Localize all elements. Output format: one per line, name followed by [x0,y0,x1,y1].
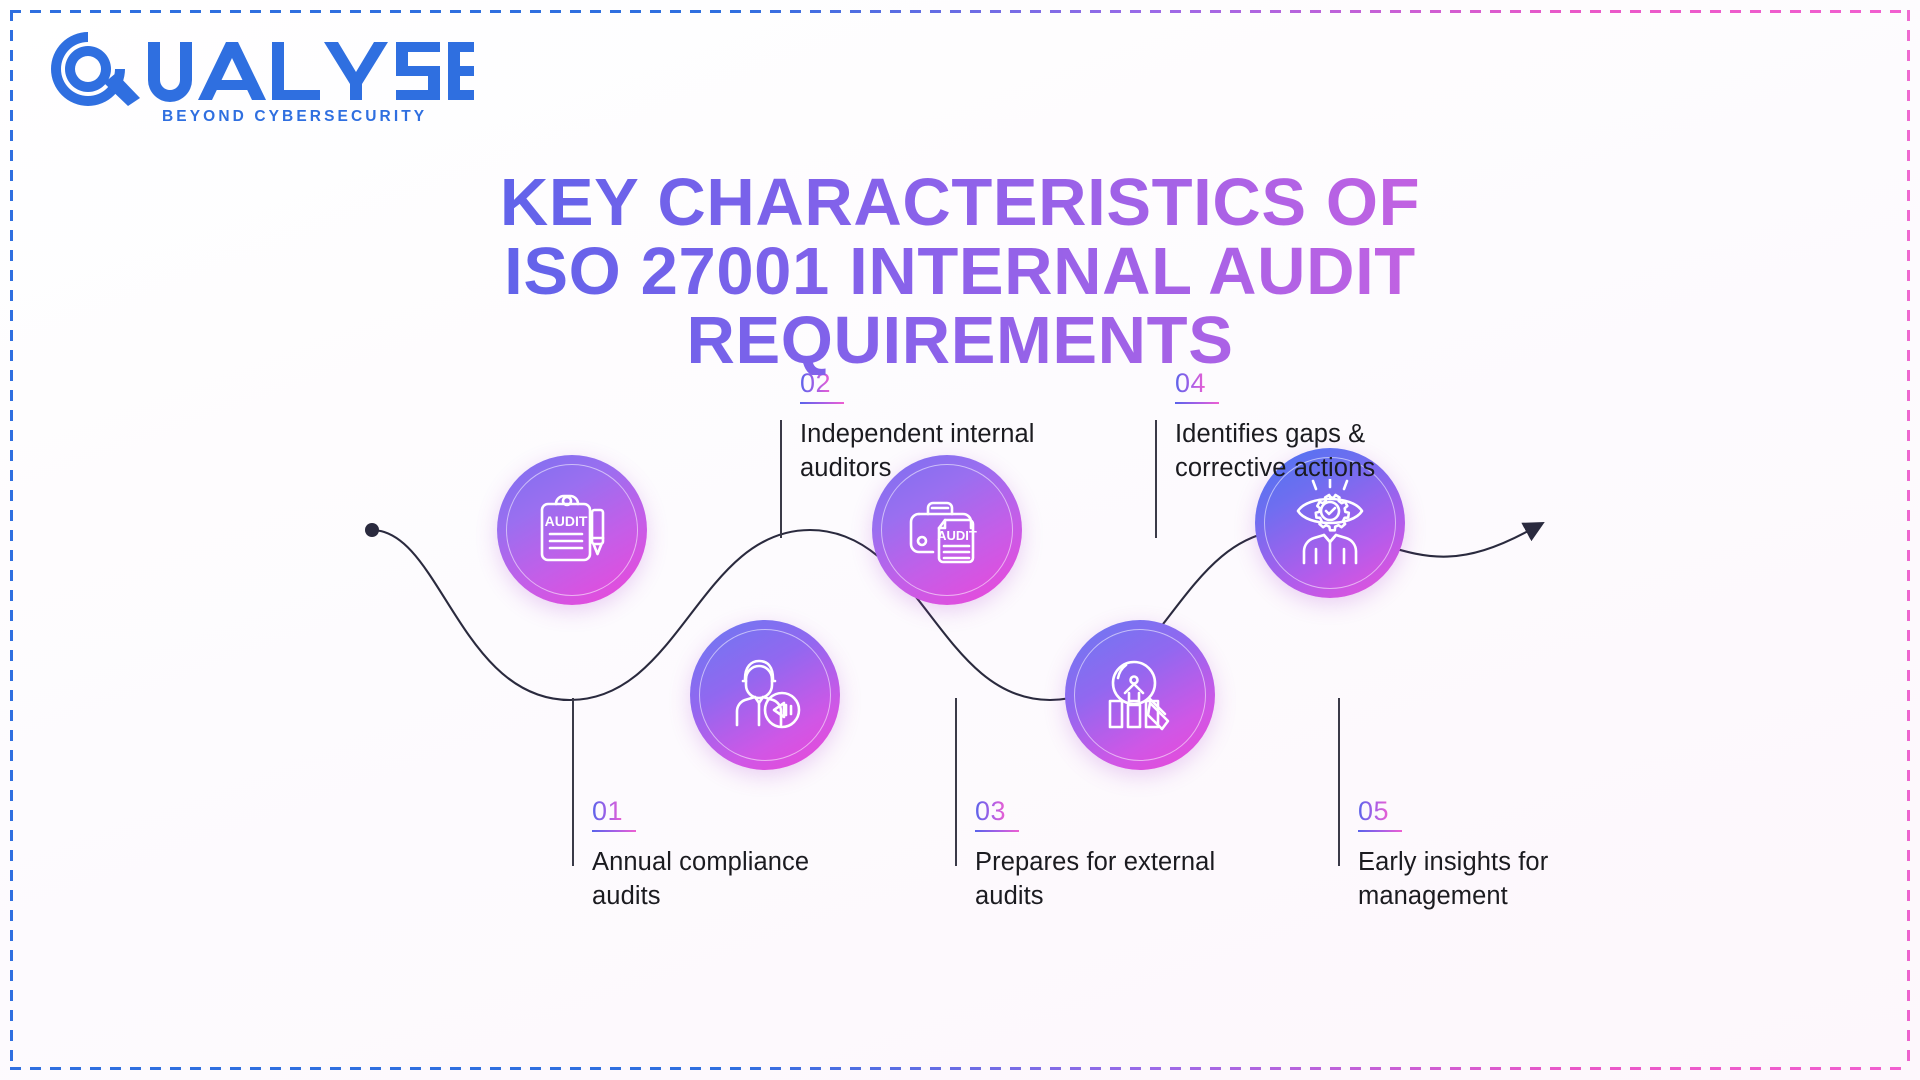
border-top [10,10,1910,13]
title-line-1: KEY CHARACTERISTICS OF [0,168,1920,237]
step-icon-02[interactable] [690,620,840,770]
briefcase-audit-text: AUDIT [937,528,977,543]
page-title: KEY CHARACTERISTICS OF ISO 27001 INTERNA… [0,168,1920,375]
callout-rule-03 [975,830,1019,832]
eye-gear-person-insight-icon [1286,479,1374,567]
border-bottom [10,1067,1910,1070]
callout-04: 04 Identifies gaps & corrective actions [1157,370,1457,485]
callout-05: 05 Early insights for management [1340,798,1640,913]
callout-text-03: Prepares for external audits [975,846,1257,913]
qualysec-wordmark-icon [44,28,474,106]
infographic-canvas: BEYOND CYBERSECURITY KEY CHARACTERISTICS… [0,0,1920,1080]
callout-text-04: Identifies gaps & corrective actions [1175,418,1457,485]
step-icon-04[interactable] [1065,620,1215,770]
callout-01: 01 Annual compliance audits [574,798,874,913]
title-line-2: ISO 27001 INTERNAL AUDIT [0,237,1920,306]
callout-rule-01 [592,830,636,832]
magnifier-bar-chart-icon [1098,653,1182,737]
callout-text-01: Annual compliance audits [592,846,874,913]
callout-03: 03 Prepares for external audits [957,798,1257,913]
callout-number-05: 05 [1358,798,1389,825]
brand-logo: BEYOND CYBERSECURITY [44,28,474,126]
title-line-3: REQUIREMENTS [0,306,1920,375]
callout-number-01: 01 [592,798,623,825]
callout-rule-04 [1175,402,1219,404]
brand-tagline: BEYOND CYBERSECURITY [162,108,474,126]
clipboard-audit-text: AUDIT [545,513,588,529]
step-icon-01[interactable]: AUDIT [497,455,647,605]
wave-start-dot [365,523,379,537]
callout-text-02: Independent internal auditors [800,418,1082,485]
briefcase-audit-document-icon: AUDIT [905,488,989,572]
wave-timeline-diagram: AUDIT [0,430,1920,950]
callout-02: 02 Independent internal auditors [782,370,1082,485]
callout-rule-02 [800,402,844,404]
callout-text-05: Early insights for management [1358,846,1640,913]
clipboard-audit-pen-icon: AUDIT [530,488,614,572]
callout-number-03: 03 [975,798,1006,825]
callout-rule-05 [1358,830,1402,832]
auditor-person-megaphone-icon [723,653,807,737]
